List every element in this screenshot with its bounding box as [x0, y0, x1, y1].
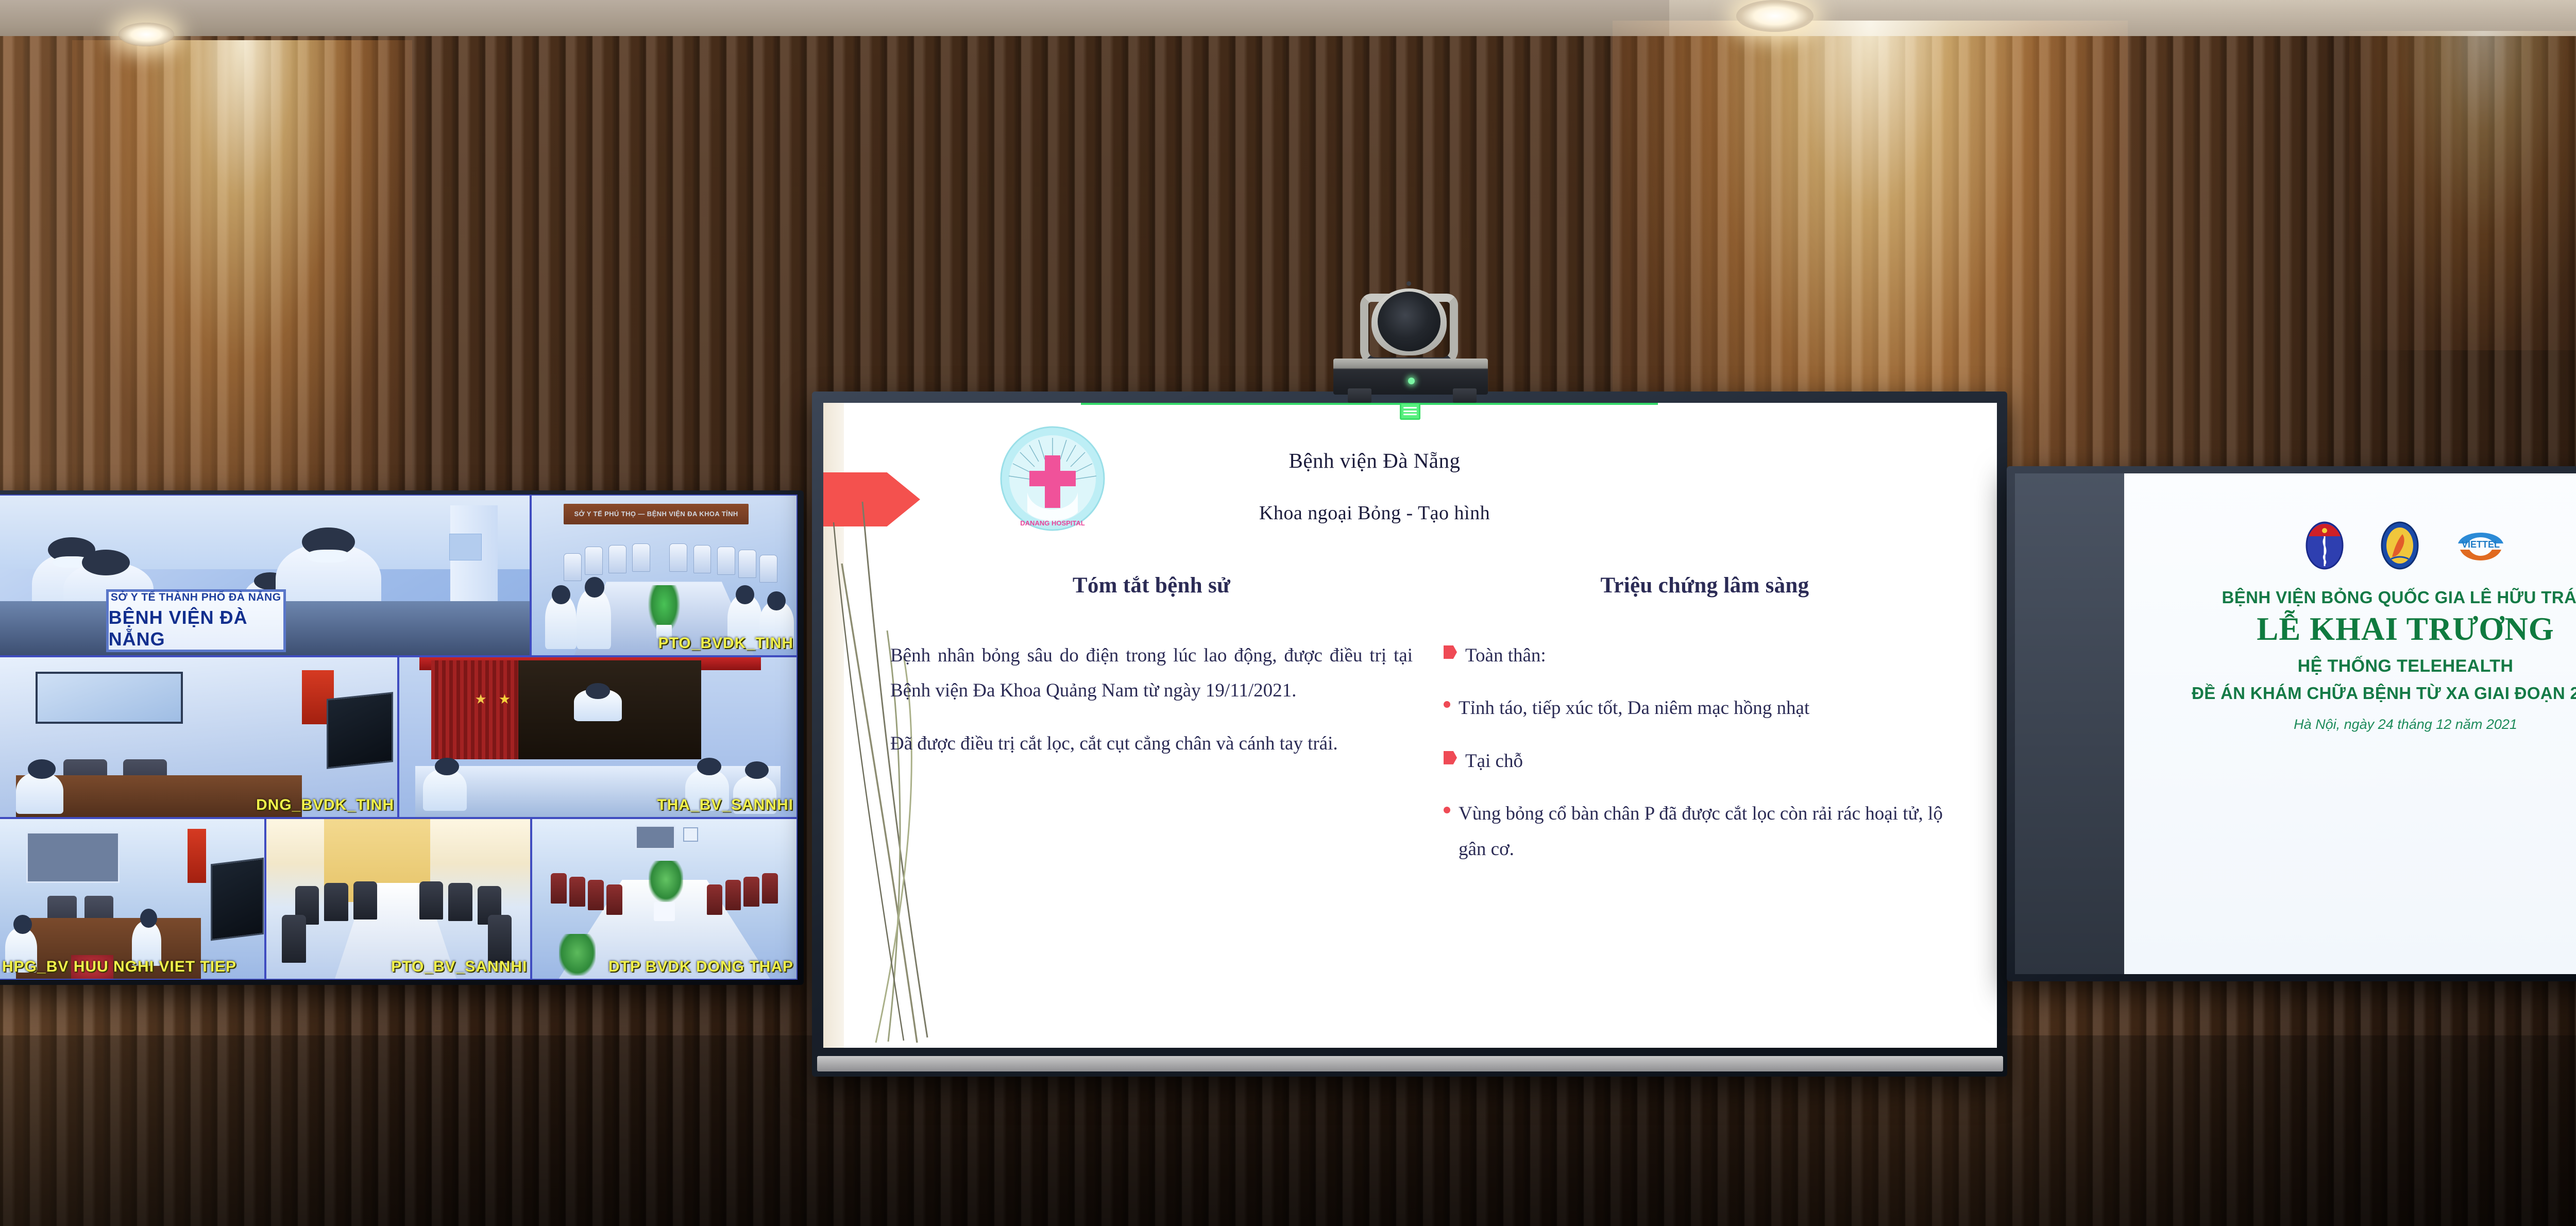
video-tile-label: HPG_BV HUU NGHI VIET TIEP [2, 958, 236, 976]
slide-header-line-1: Bệnh viện Đà Nẵng [1143, 448, 1606, 473]
column-title: Triệu chứng lâm sàng [1444, 573, 1966, 598]
video-grid-row-top: SỞ Y TẾ THÀNH PHỐ ĐÀ NẴNG BỆNH VIỆN ĐÀ N… [0, 495, 798, 656]
video-tile-tha-bv-sannhi[interactable]: ★ ★ THA_BV_SANNHI [398, 656, 798, 818]
svg-text:DANANG HOSPITAL: DANANG HOSPITAL [1020, 519, 1084, 527]
slide-header-line-2: Khoa ngoại Bỏng - Tạo hình [1143, 502, 1606, 524]
ceiling-downlight-right [1736, 0, 1814, 32]
symptom-item: Toàn thân: [1444, 638, 1966, 673]
camera-lens-icon [1378, 292, 1440, 351]
square-bullet-icon [1444, 645, 1457, 659]
ceremony-line-5: Hà Nội, ngày 24 tháng 12 năm 2021 [2294, 717, 2517, 733]
ceremony-line-1: BỆNH VIỆN BỎNG QUỐC GIA LÊ HỮU TRÁC [2222, 588, 2576, 607]
svg-text:VIETTEL: VIETTEL [2462, 539, 2500, 550]
video-tile-label: PTO_BVDK_TINH [658, 635, 794, 652]
ptz-camera [1324, 276, 1499, 395]
symptom-item: Vùng bỏng cổ bàn chân P đã được cắt lọc … [1444, 796, 1966, 867]
video-tile-label: THA_BV_SANNHI [657, 796, 793, 814]
ceremony-title-display[interactable]: VIETTEL BỆNH VIỆN BỎNG QUỐC GIA LÊ HỮU T… [2007, 466, 2576, 981]
video-tile-dtp-bvdk-dong-thap[interactable]: DTP BVDK DONG THAP [531, 818, 798, 980]
tile-scene: ★ ★ [399, 657, 796, 817]
video-tile-label: PTO_BV_SANNHI [391, 958, 527, 976]
slide-column-history: Tóm tắt bệnh sử Bệnh nhân bỏng sâu do đi… [890, 573, 1413, 1035]
screen-ir-sensor-icon [1400, 403, 1420, 420]
dot-bullet-icon [1444, 807, 1450, 813]
viettel-logo-icon: VIETTEL [2455, 521, 2506, 570]
tile-scene: SỞ Y TẾ PHÚ THỌ — BỆNH VIỆN ĐA KHOA TỈNH [532, 496, 796, 655]
slide-columns: Tóm tắt bệnh sử Bệnh nhân bỏng sâu do đi… [890, 573, 1966, 1035]
tile-scene: SỞ Y TẾ THÀNH PHỐ ĐÀ NẴNG BỆNH VIỆN ĐÀ N… [0, 496, 530, 655]
video-tile-label: DTP BVDK DONG THAP [608, 958, 793, 976]
ceremony-line-3: HỆ THỐNG TELEHEALTH [2298, 656, 2514, 676]
video-grid[interactable]: SỞ Y TẾ THÀNH PHỐ ĐÀ NẴNG BỆNH VIỆN ĐÀ N… [0, 495, 798, 980]
camera-status-led-icon [1408, 378, 1415, 384]
display-left-dark-area [2015, 473, 2124, 974]
symptom-text: Tại chỗ [1465, 744, 1523, 779]
desk-sign-line-1: SỞ Y TẾ THÀNH PHỐ ĐÀ NẴNG [111, 591, 281, 604]
camera-bracket-foot-left [1348, 388, 1371, 403]
tile-scene [532, 819, 796, 979]
column-title: Tóm tắt bệnh sử [890, 573, 1413, 598]
video-tile-label: DNG_BVDK_TINH [256, 796, 394, 814]
danang-hospital-logo-icon: DANANG HOSPITAL [998, 424, 1107, 533]
video-tile-main[interactable]: SỞ Y TẾ THÀNH PHỐ ĐÀ NẴNG BỆNH VIỆN ĐÀ N… [0, 495, 531, 656]
symptom-item: Tại chỗ [1444, 744, 1966, 779]
square-bullet-icon [1444, 751, 1457, 764]
camera-microphone-icon [1406, 281, 1411, 286]
history-paragraph-2: Đã được điều trị cắt lọc, cắt cụt cẳng c… [890, 726, 1413, 761]
desk-sign-line-2: BỆNH VIỆN ĐÀ NẴNG [109, 607, 283, 650]
video-grid-row-bottom: HPG_BV HUU NGHI VIET TIEP [0, 818, 798, 980]
ceremony-line-4: ĐỀ ÁN KHÁM CHỮA BỆNH TỪ XA GIAI ĐOẠN 202… [2192, 684, 2576, 703]
tile-scene [0, 819, 264, 979]
tile-banner-text: SỞ Y TẾ PHÚ THỌ — BỆNH VIỆN ĐA KHOA TỈNH [574, 510, 738, 518]
ceremony-line-2: LỄ KHAI TRƯƠNG [2257, 610, 2554, 648]
screen-top-glow [1081, 403, 1658, 405]
bo-y-te-logo-icon [2304, 521, 2345, 570]
ceremony-slide[interactable]: VIETTEL BỆNH VIỆN BỎNG QUỐC GIA LÊ HỮU T… [2124, 473, 2576, 974]
history-paragraph-1: Bệnh nhân bỏng sâu do điện trong lúc lao… [890, 638, 1413, 709]
le-huu-trac-logo-icon [2380, 521, 2420, 570]
desk-name-plate: SỞ Y TẾ THÀNH PHỐ ĐÀ NẴNG BỆNH VIỆN ĐÀ N… [106, 589, 286, 652]
symptom-text: Vùng bỏng cổ bàn chân P đã được cắt lọc … [1459, 796, 1966, 867]
ceiling-downlight-left [118, 23, 174, 46]
camera-bracket-foot-right [1453, 388, 1477, 403]
video-tile-pto-bv-sannhi[interactable]: PTO_BV_SANNHI [265, 818, 532, 980]
video-tile-dng-bvdk-tinh[interactable]: DNG_BVDK_TINH [0, 656, 398, 818]
symptom-text: Toàn thân: [1465, 638, 1546, 673]
tile-scene [266, 819, 531, 979]
slide-header: Bệnh viện Đà Nẵng Khoa ngoại Bỏng - Tạo … [1143, 448, 1606, 524]
symptom-item: Tỉnh táo, tiếp xúc tốt, Da niêm mạc hồng… [1444, 691, 1966, 726]
presentation-display[interactable]: DANANG HOSPITAL Bệnh viện Đà Nẵng Khoa n… [812, 391, 2007, 1077]
conference-room-scene: SỞ Y TẾ THÀNH PHỐ ĐÀ NẴNG BỆNH VIỆN ĐÀ N… [0, 0, 2576, 1226]
dot-bullet-icon [1444, 701, 1450, 708]
display-stand-bar [817, 1056, 2003, 1071]
symptom-text: Tỉnh táo, tiếp xúc tốt, Da niêm mạc hồng… [1459, 691, 1809, 726]
video-conference-display[interactable]: SỞ Y TẾ THÀNH PHỐ ĐÀ NẴNG BỆNH VIỆN ĐÀ N… [0, 490, 804, 985]
tile-scene [0, 657, 397, 817]
slide-canvas[interactable]: DANANG HOSPITAL Bệnh viện Đà Nẵng Khoa n… [823, 403, 1997, 1048]
video-tile-hpg-bv-huu-nghi-viet-tiep[interactable]: HPG_BV HUU NGHI VIET TIEP [0, 818, 265, 980]
ceremony-logo-row: VIETTEL [2304, 521, 2506, 570]
slide-column-symptoms: Triệu chứng lâm sàng Toàn thân: Tỉnh táo… [1444, 573, 1966, 1035]
video-grid-row-middle: DNG_BVDK_TINH ★ ★ [0, 656, 798, 818]
video-tile-pto-bvdk-tinh[interactable]: SỞ Y TẾ PHÚ THỌ — BỆNH VIỆN ĐA KHOA TỈNH [531, 495, 798, 656]
